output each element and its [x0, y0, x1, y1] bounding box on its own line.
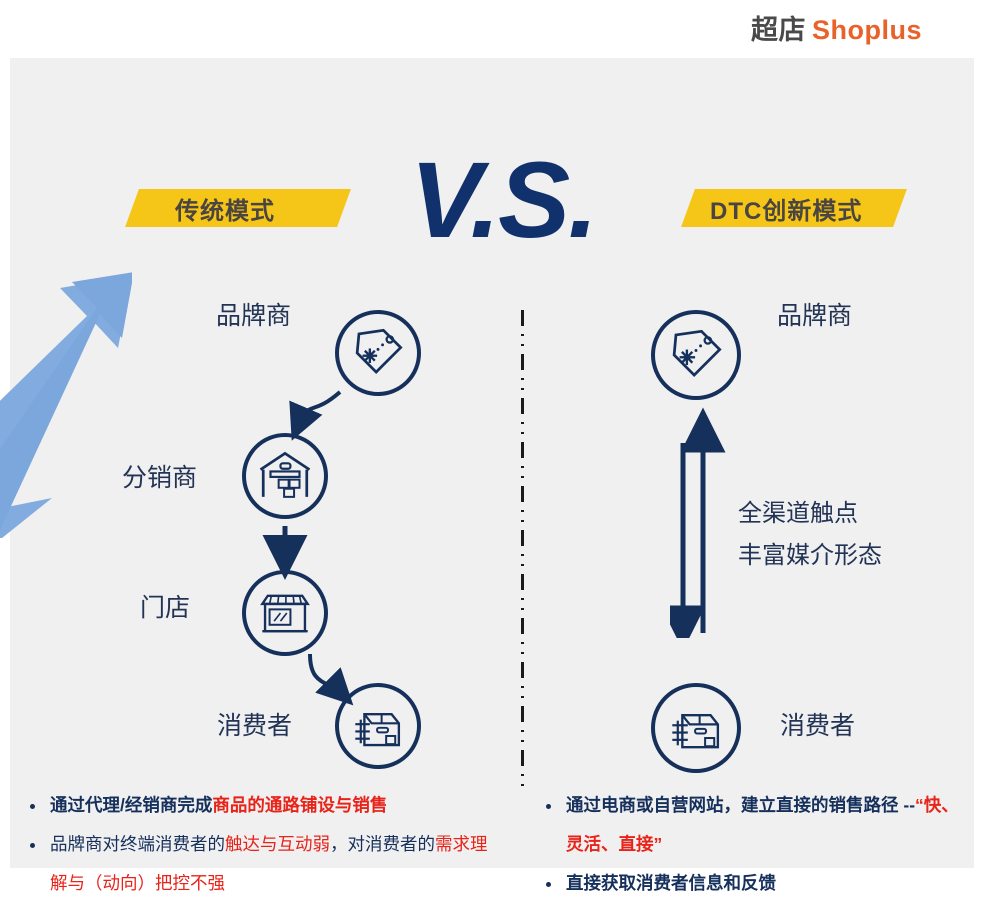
bullet-text-segment: 通过电商或自营网站，建立直接的销售路径 -- [566, 795, 915, 815]
left-bullet-list: 通过代理/经销商完成商品的通路铺设与销售品牌商对终端消费者的触达与互动弱，对消费… [24, 786, 494, 903]
package-box-icon [655, 687, 737, 769]
price-tag-icon [339, 314, 417, 392]
upward-trend-arrow-icon [0, 238, 132, 538]
bullet-item: 通过电商或自营网站，建立直接的销售路径 --“快、灵活、直接” [540, 786, 970, 864]
storefront-icon [246, 574, 324, 652]
warehouse-icon [246, 437, 324, 515]
shoplus-logo: 超店Shoplus [751, 8, 922, 47]
bullet-item: 直接获取消费者信息和反馈 [540, 864, 970, 903]
channel-line-2: 丰富媒介形态 [738, 535, 882, 577]
right-node-brand[interactable] [651, 310, 741, 400]
bullet-item: 通过代理/经销商完成商品的通路铺设与销售 [24, 786, 494, 825]
logo-text-en: Shoplus [812, 15, 922, 45]
bullet-item: 品牌商对终端消费者的触达与互动弱，对消费者的需求理解与（动向）把控不强 [24, 825, 494, 903]
right-label-brand: 品牌商 [777, 296, 852, 332]
vs-title: V.S. [410, 146, 596, 254]
banner-traditional-label: 传统模式 [175, 191, 275, 226]
comparison-panel: 传统模式 DTC创新模式 V.S. [10, 58, 974, 868]
right-node-consumer[interactable] [651, 683, 741, 773]
left-label-store: 门店 [140, 588, 190, 624]
channel-line-1: 全渠道触点 [738, 493, 882, 535]
package-box-icon [339, 687, 417, 765]
right-label-consumer: 消费者 [780, 706, 855, 742]
bullet-text-segment: ，对消费者的 [330, 834, 435, 854]
left-node-store[interactable] [242, 570, 328, 656]
bullet-text-segment: 品牌商对终端消费者的 [50, 834, 225, 854]
bullet-text-segment: 触达与互动弱 [225, 834, 330, 854]
two-way-channel-arrows [670, 388, 730, 638]
slide-root: 超店Shoplus 传统模式 DTC创新模式 V.S. [0, 0, 984, 868]
logo-text-cn: 超店 [751, 15, 806, 45]
price-tag-icon [655, 314, 737, 396]
left-label-consumer: 消费者 [217, 706, 292, 742]
left-label-brand: 品牌商 [216, 296, 291, 332]
channel-description: 全渠道触点 丰富媒介形态 [738, 493, 882, 577]
center-divider [521, 310, 524, 790]
bullet-text-segment: 直接获取消费者信息和反馈 [566, 873, 776, 893]
banner-dtc-label: DTC创新模式 [710, 191, 862, 226]
bullet-text-segment: 商品的通路铺设与销售 [212, 795, 387, 815]
left-label-distributor: 分销商 [122, 458, 197, 494]
page-header: 超店Shoplus [0, 0, 984, 58]
left-node-consumer[interactable] [335, 683, 421, 769]
bullet-text-segment: 通过代理/经销商完成 [50, 795, 212, 815]
left-node-distributor[interactable] [242, 433, 328, 519]
right-bullet-list: 通过电商或自营网站，建立直接的销售路径 --“快、灵活、直接”直接获取消费者信息… [540, 786, 970, 903]
left-node-brand[interactable] [335, 310, 421, 396]
